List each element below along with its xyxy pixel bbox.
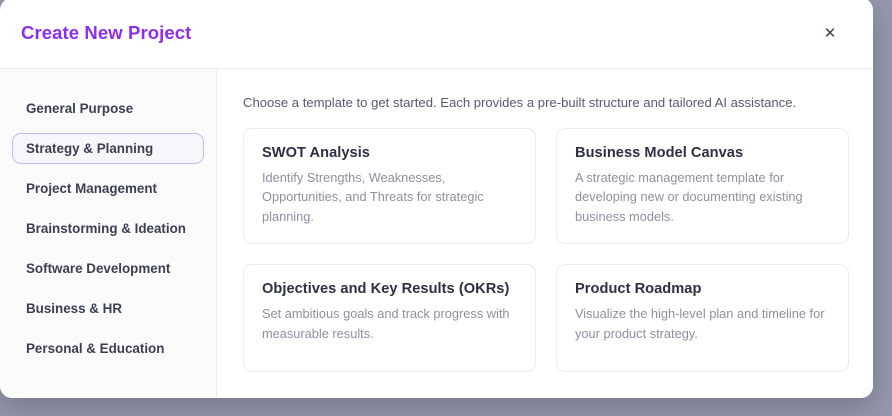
- template-grid: SWOT Analysis Identify Strengths, Weakne…: [243, 128, 849, 372]
- panel-intro-text: Choose a template to get started. Each p…: [243, 95, 849, 110]
- dialog-body: General Purpose Strategy & Planning Proj…: [0, 69, 873, 398]
- template-panel: Choose a template to get started. Each p…: [217, 69, 873, 398]
- sidebar-item-label: Personal & Education: [26, 341, 164, 356]
- template-card-description: Set ambitious goals and track progress w…: [262, 304, 517, 343]
- sidebar-item-label: Business & HR: [26, 301, 122, 316]
- template-card-okrs[interactable]: Objectives and Key Results (OKRs) Set am…: [243, 264, 536, 372]
- sidebar-item-software-development[interactable]: Software Development: [12, 253, 204, 284]
- close-icon[interactable]: ✕: [817, 20, 843, 46]
- sidebar-item-general-purpose[interactable]: General Purpose: [12, 93, 204, 124]
- template-card-description: Identify Strengths, Weaknesses, Opportun…: [262, 168, 517, 226]
- template-card-description: A strategic management template for deve…: [575, 168, 830, 226]
- sidebar-item-label: General Purpose: [26, 101, 133, 116]
- sidebar-item-strategy-planning[interactable]: Strategy & Planning: [12, 133, 204, 164]
- page-title: Create New Project: [21, 22, 191, 44]
- template-card-title: Business Model Canvas: [575, 145, 830, 161]
- sidebar-item-personal-education[interactable]: Personal & Education: [12, 333, 204, 364]
- template-card-business-model-canvas[interactable]: Business Model Canvas A strategic manage…: [556, 128, 849, 244]
- sidebar-item-label: Project Management: [26, 181, 157, 196]
- sidebar-item-brainstorming-ideation[interactable]: Brainstorming & Ideation: [12, 213, 204, 244]
- sidebar-item-label: Brainstorming & Ideation: [26, 221, 186, 236]
- create-new-project-dialog: Create New Project ✕ General Purpose Str…: [0, 0, 873, 398]
- template-card-title: Product Roadmap: [575, 281, 830, 297]
- dialog-header: Create New Project ✕: [0, 0, 873, 69]
- sidebar-item-label: Strategy & Planning: [26, 141, 153, 156]
- category-sidebar: General Purpose Strategy & Planning Proj…: [0, 69, 217, 398]
- template-card-swot-analysis[interactable]: SWOT Analysis Identify Strengths, Weakne…: [243, 128, 536, 244]
- sidebar-item-project-management[interactable]: Project Management: [12, 173, 204, 204]
- template-card-title: SWOT Analysis: [262, 145, 517, 161]
- sidebar-item-label: Software Development: [26, 261, 170, 276]
- template-card-product-roadmap[interactable]: Product Roadmap Visualize the high-level…: [556, 264, 849, 372]
- template-card-description: Visualize the high-level plan and timeli…: [575, 304, 830, 343]
- sidebar-item-business-hr[interactable]: Business & HR: [12, 293, 204, 324]
- template-card-title: Objectives and Key Results (OKRs): [262, 281, 517, 297]
